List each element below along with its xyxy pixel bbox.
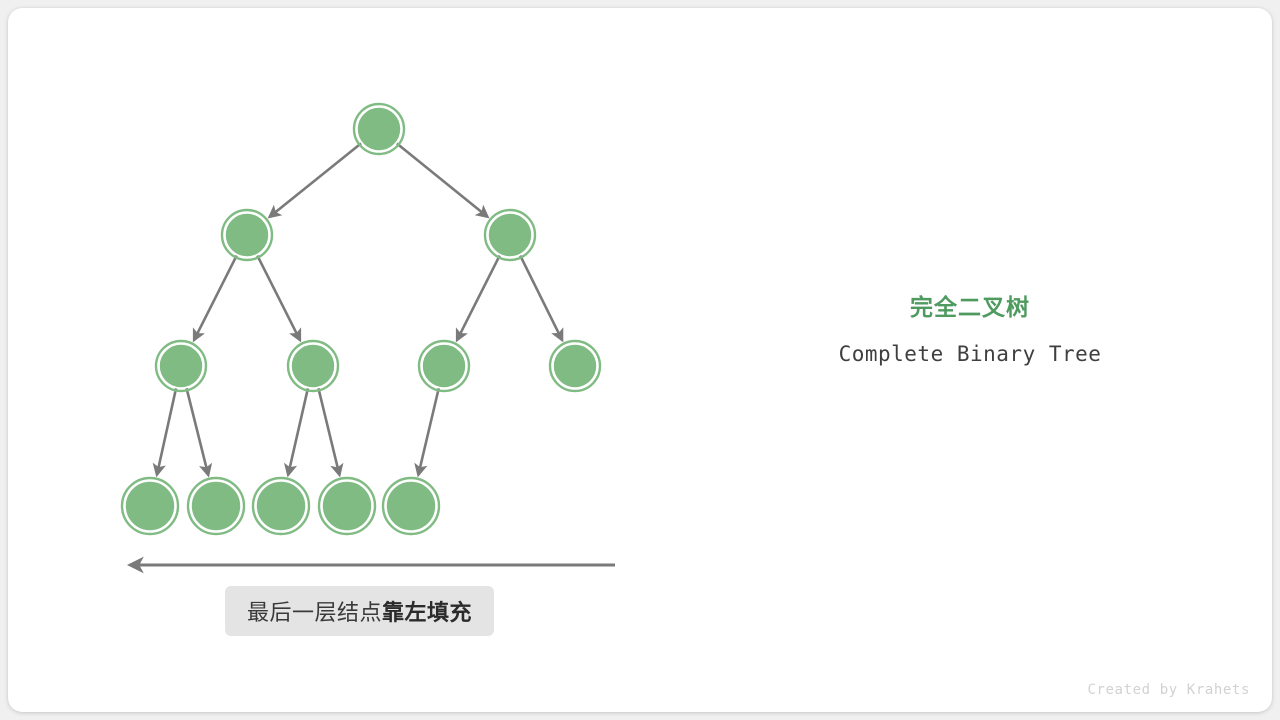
tree-node [550,341,600,391]
tree-node-body [159,344,203,388]
watermark: Created by Krahets [1087,682,1250,698]
tree-edge [318,388,339,475]
tree-node-body [191,481,241,531]
tree-edge [288,388,308,474]
tree-node [354,104,404,154]
tree-node [383,478,439,534]
annotation-chip-label: 最后一层结点靠左填充 [247,595,472,627]
tree-edge [418,388,438,474]
tree-node [253,478,309,534]
tree-edge [194,256,237,341]
tree-node-body [125,481,175,531]
tree-edge [187,388,209,475]
diagram-canvas: 完全二叉树 Complete Binary Tree 最后一层结点靠左填充 Cr… [0,0,1280,720]
tree-node-body [488,213,532,257]
annotation-chip-label-normal: 最后一层结点 [247,600,382,625]
tree-node [156,341,206,391]
tree-edges [157,143,562,475]
tree-node [419,341,469,391]
tree-node-body [422,344,466,388]
tree-nodes [122,104,600,534]
tree-node-body [357,107,401,151]
tree-node [319,478,375,534]
page-title: 完全二叉树 [760,292,1180,322]
tree-node [288,341,338,391]
tree-node-body [322,481,372,531]
caption-block: 完全二叉树 Complete Binary Tree [760,292,1180,368]
page-subtitle: Complete Binary Tree [760,340,1180,368]
tree-edge [397,143,488,216]
tree-node-body [256,481,306,531]
tree-node-body [553,344,597,388]
annotation-chip: 最后一层结点靠左填充 [225,586,494,636]
tree-edge [520,256,562,340]
tree-edge [457,256,500,341]
tree-node [485,210,535,260]
annotation-chip-label-bold: 靠左填充 [382,600,472,625]
tree-edge [257,256,300,341]
tree-node [122,478,178,534]
tree-edge [157,388,176,474]
tree-node-body [225,213,269,257]
tree-edge [270,143,361,216]
tree-node-body [386,481,436,531]
tree-node [188,478,244,534]
tree-node [222,210,272,260]
tree-node-body [291,344,335,388]
